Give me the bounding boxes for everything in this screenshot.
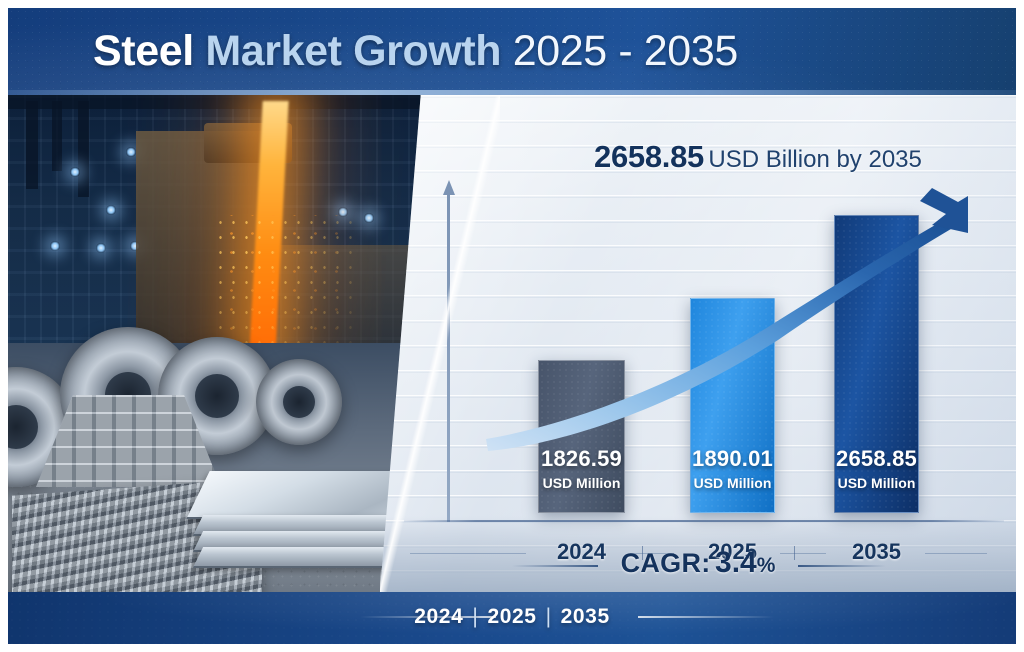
cagr-text: CAGR: 3.4% — [380, 546, 1016, 580]
bar-2024[interactable]: 1826.59 USD Million — [538, 360, 625, 513]
coil-hole — [283, 386, 315, 418]
bar-2025-value: 1890.01 — [691, 448, 774, 470]
cagr-label: CAGR: — [621, 548, 711, 578]
cagr-callout: CAGR: 3.4% — [380, 534, 1016, 592]
bar-2035-value: 2658.85 — [835, 448, 918, 470]
factory-lamp — [70, 167, 80, 177]
title-segment-years: 2025 - 2035 — [513, 27, 738, 75]
factory-lamp — [96, 243, 106, 253]
x-axis-line — [404, 520, 1004, 522]
bar-2024-value: 1826.59 — [539, 448, 624, 470]
bar-2025-unit: USD Million — [691, 476, 774, 490]
bar-2035[interactable]: 2658.85 USD Million — [834, 215, 919, 513]
header-banner: Steel Market Growth 2025 - 2035 — [8, 8, 1016, 95]
bar-2024-unit: USD Million — [539, 476, 624, 490]
coil-hole — [195, 374, 239, 418]
hanging-chain — [52, 101, 62, 171]
bar-group: 1826.59 USD Million 1890.01 USD Million … — [380, 95, 1016, 592]
factory-lamp — [50, 241, 60, 251]
bar-2025[interactable]: 1890.01 USD Million — [690, 298, 775, 513]
factory-lamp — [364, 213, 374, 223]
factory-lamp — [126, 147, 136, 157]
chart-panel: 2658.85 USD Billion by 2035 1826.59 USD … — [380, 95, 1016, 592]
footer-year-2024: 2024 — [414, 605, 463, 628]
bar-2035-unit: USD Million — [835, 476, 918, 490]
footer-banner: 2024|2025|2035 — [8, 592, 1016, 644]
bar-2025-label: 1890.01 USD Million — [691, 448, 774, 490]
footer-separator: | — [546, 605, 552, 628]
bar-2035-label: 2658.85 USD Million — [835, 448, 918, 490]
title-segment-steel: Steel — [93, 27, 194, 75]
infographic-canvas: Steel Market Growth 2025 - 2035 — [8, 8, 1016, 644]
footer-year-2025: 2025 — [487, 605, 536, 628]
footer-year-2035: 2035 — [561, 605, 610, 628]
hanging-chain — [78, 101, 89, 197]
footer-rule-right — [638, 616, 774, 618]
cagr-rule-right — [798, 565, 886, 567]
steel-coil — [256, 359, 342, 445]
footer-separator: | — [472, 605, 478, 628]
coil-hole — [8, 405, 38, 449]
page-title: Steel Market Growth 2025 - 2035 — [93, 27, 738, 76]
footer-year-list: 2024|2025|2035 — [8, 605, 1016, 629]
cagr-percent: % — [757, 554, 776, 577]
cagr-value: 3.4 — [715, 546, 757, 579]
hanging-chain — [26, 101, 38, 189]
title-segment-market-growth: Market Growth — [205, 27, 501, 75]
infographic-poster: Steel Market Growth 2025 - 2035 — [0, 0, 1024, 652]
bar-2024-label: 1826.59 USD Million — [539, 448, 624, 490]
factory-lamp — [106, 205, 116, 215]
